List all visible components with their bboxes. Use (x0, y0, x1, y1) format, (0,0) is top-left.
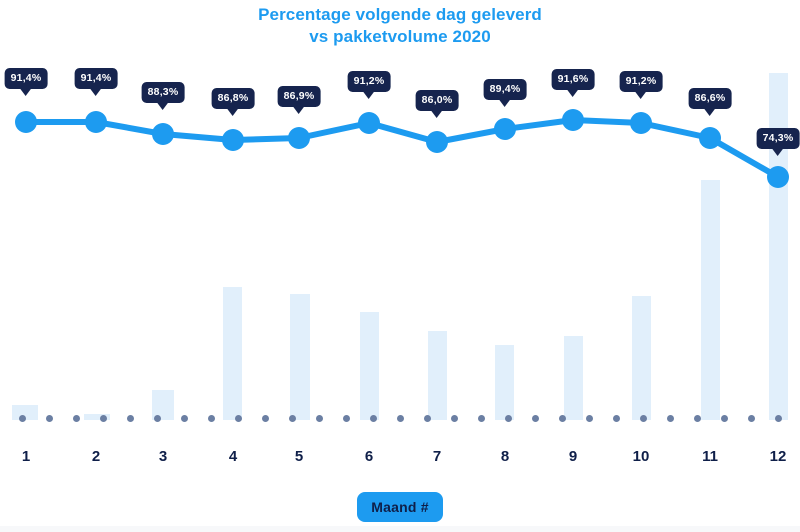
value-label-month-2: 91,4% (75, 68, 118, 89)
value-label-month-12: 74,3% (757, 128, 800, 149)
value-label-month-5: 86,9% (278, 86, 321, 107)
x-axis-tick-7: 7 (433, 448, 441, 465)
x-axis-tick-8: 8 (501, 448, 509, 465)
value-label-month-8: 89,4% (484, 79, 527, 100)
x-axis-tick-12: 12 (770, 448, 787, 465)
page-title: Percentage volgende dag geleverd vs pakk… (0, 4, 800, 48)
x-axis-tick-10: 10 (633, 448, 650, 465)
value-label-month-3: 88,3% (142, 82, 185, 103)
x-axis-title-pill: Maand # (357, 492, 442, 522)
value-label-month-9: 91,6% (552, 69, 595, 90)
x-axis-tick-11: 11 (702, 448, 718, 465)
value-label-month-10: 91,2% (620, 71, 663, 92)
x-axis-title-wrap: Maand # (0, 492, 800, 522)
value-label-month-7: 86,0% (416, 90, 459, 111)
chart-title-line-1: Percentage volgende dag geleverd (0, 4, 800, 26)
x-axis-tick-6: 6 (365, 448, 373, 465)
value-label-month-1: 91,4% (5, 68, 48, 89)
x-axis-tick-3: 3 (159, 448, 167, 465)
value-label-month-6: 91,2% (348, 71, 391, 92)
plot-area: 91,4%91,4%88,3%86,8%86,9%91,2%86,0%89,4%… (0, 60, 800, 420)
chart-title-line-2: vs pakketvolume 2020 (0, 26, 800, 48)
data-label-group: 91,4%91,4%88,3%86,8%86,9%91,2%86,0%89,4%… (0, 60, 800, 420)
value-label-month-11: 86,6% (689, 88, 732, 109)
x-axis-tick-9: 9 (569, 448, 577, 465)
x-axis-tick-4: 4 (229, 448, 237, 465)
value-label-month-4: 86,8% (212, 88, 255, 109)
x-axis-tick-labels: 123456789101112 (0, 448, 800, 478)
chart-container: Percentage volgende dag geleverd vs pakk… (0, 0, 800, 532)
x-axis-tick-5: 5 (295, 448, 303, 465)
footer-strip (0, 526, 800, 532)
x-axis-tick-2: 2 (92, 448, 100, 465)
x-axis-tick-1: 1 (22, 448, 30, 465)
